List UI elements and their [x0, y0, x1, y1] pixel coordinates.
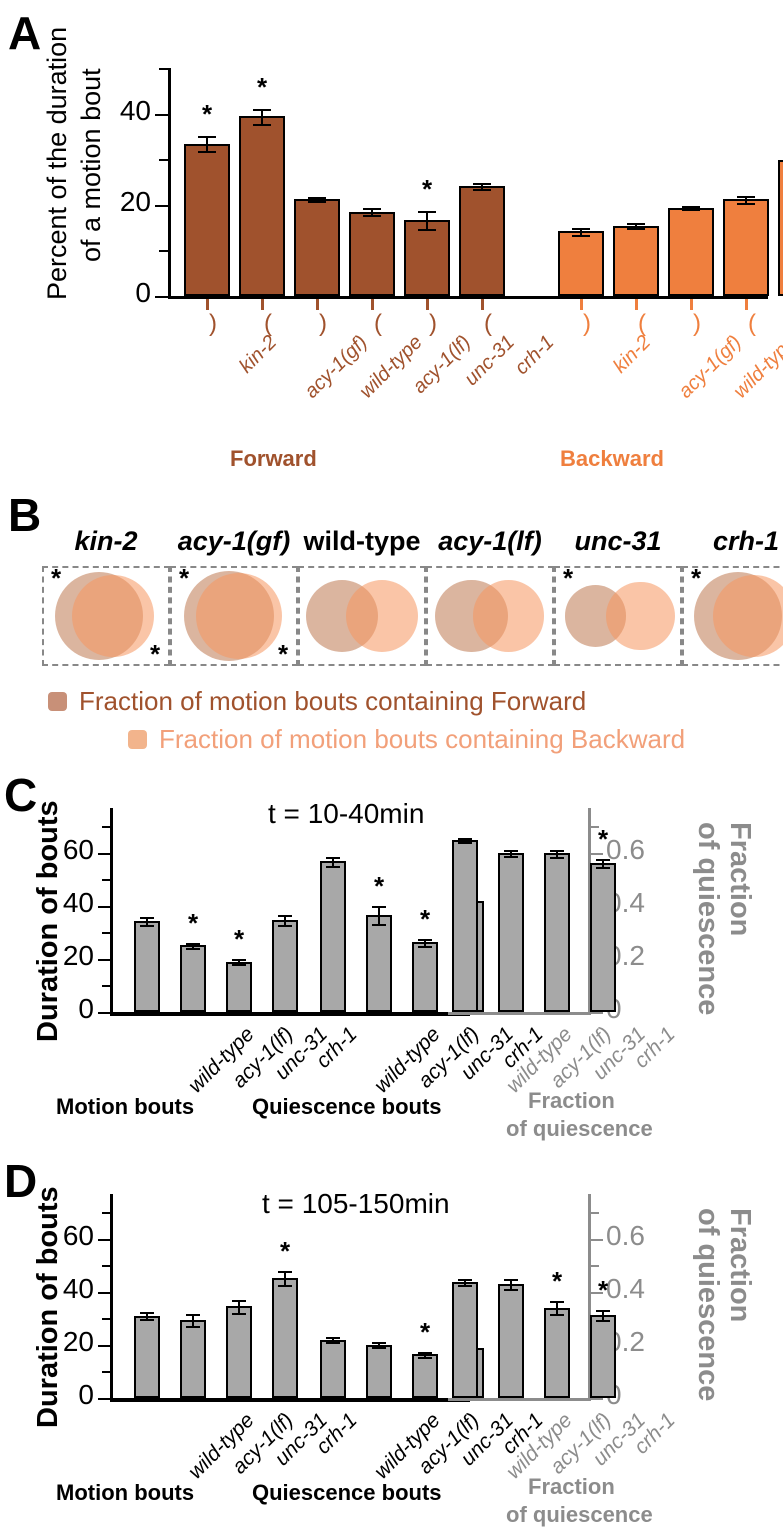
panel-a-errorbar-cap — [253, 109, 271, 111]
panel-a-bar-forward-wild-type — [294, 199, 340, 296]
errorbar-cap — [458, 842, 472, 844]
errorbar-cap — [458, 838, 472, 840]
panel-a-ytick — [155, 205, 168, 207]
left-ytick — [102, 1212, 110, 1214]
panel-c-group-fraction-line1: Fraction — [528, 1088, 615, 1114]
left-y-axis — [110, 808, 113, 1015]
errorbar-cap — [278, 1271, 292, 1273]
errorbar-cap — [596, 1320, 610, 1322]
panel-a-bar-backward-unc-31 — [778, 160, 783, 296]
errorbar-cap — [326, 1342, 340, 1344]
bar-motion-bouts-acy-1(lf) — [180, 1320, 206, 1398]
legend-row-forward: Fraction of motion bouts containing Forw… — [48, 686, 586, 717]
panel-a-errorbar-cap — [627, 223, 645, 225]
errorbar-cap — [232, 1313, 246, 1315]
panel-b-circle-backward-unc-31 — [606, 582, 674, 650]
right-ytick-label-2: 0.4 — [606, 1276, 684, 1301]
left-x-axis — [110, 1012, 470, 1016]
right-ytick — [591, 1398, 603, 1400]
significance-star: * — [591, 1280, 615, 1300]
panel-a-xtick — [206, 299, 209, 310]
errorbar-cap — [418, 946, 432, 948]
panel-b-circle-backward-acy-1(gf) — [196, 573, 282, 659]
panel-a-errorbar-cap — [572, 235, 590, 237]
panel-a-significance-star: * — [413, 179, 441, 199]
panel-d-group-fraction-line1: Fraction — [528, 1474, 615, 1500]
right-ytick-label-1: 0.2 — [606, 943, 684, 968]
errorbar-cap — [372, 906, 386, 908]
bar-motion-bouts-unc-31 — [226, 1306, 252, 1398]
errorbar-cap — [232, 964, 246, 966]
panel-d-plot: 020406000.20.40.6wild-typeacy-1(lf)unc-3… — [0, 1148, 783, 1526]
bar-motion-bouts-crh-1 — [272, 1278, 298, 1398]
left-ytick — [98, 853, 110, 855]
bar-motion-bouts-wild-type — [134, 921, 160, 1012]
panel-a-errorbar — [206, 136, 208, 151]
panel-a-ytick — [155, 114, 168, 116]
errorbar-cap — [596, 859, 610, 861]
panel-a-bar-forward-acy-1(gf) — [239, 116, 285, 296]
errorbar-cap — [596, 1310, 610, 1312]
significance-star: * — [273, 1241, 297, 1261]
left-ytick — [102, 1265, 110, 1267]
panel-a-errorbar-cap — [572, 228, 590, 230]
legend-swatch-forward — [48, 692, 67, 711]
panel-b-star-topleft-crh-1: * — [685, 568, 707, 588]
panel-a-xtick — [481, 299, 484, 310]
errorbar-cap — [550, 1301, 564, 1303]
left-ytick — [98, 959, 110, 961]
right-ytick — [591, 1212, 599, 1214]
panel-a-ytick-label-1: 20 — [73, 189, 151, 214]
right-ytick — [591, 1012, 603, 1014]
panel-a-label-connector: ( — [264, 310, 272, 338]
left-x-axis — [110, 1398, 470, 1402]
left-ytick — [102, 932, 110, 934]
panel-c: C t = 10-40min Duration of bouts Fractio… — [0, 762, 783, 1140]
errorbar-cap — [232, 959, 246, 961]
legend-label-backward: Fraction of motion bouts containing Back… — [159, 724, 685, 755]
errorbar-cap — [458, 1285, 472, 1287]
panel-a-errorbar-cap — [418, 229, 436, 231]
errorbar-cap — [326, 1337, 340, 1339]
left-ytick — [98, 1239, 110, 1241]
panel-a-ytick-label-0: 0 — [73, 280, 151, 305]
panel-a-group-backward: Backward — [560, 446, 664, 472]
panel-c-group-quiescence: Quiescence bouts — [252, 1094, 442, 1120]
panel-a-bar-forward-unc-31 — [404, 220, 450, 296]
errorbar — [284, 1271, 286, 1285]
errorbar-cap — [278, 925, 292, 927]
panel-a-x-axis — [168, 296, 768, 299]
errorbar-cap — [504, 850, 518, 852]
significance-star: * — [545, 1271, 569, 1291]
left-ytick-label-0: 0 — [20, 996, 94, 1021]
errorbar-cap — [186, 1314, 200, 1316]
panel-a-bar-forward-kin-2 — [184, 144, 230, 296]
bar-fraction-of-quiescence-crh-1 — [590, 1315, 616, 1398]
panel-a-errorbar-cap — [473, 183, 491, 185]
panel-a-errorbar-cap — [627, 228, 645, 230]
left-ytick-label-2: 40 — [20, 1276, 94, 1301]
errorbar-cap — [140, 925, 154, 927]
bar-fraction-of-quiescence-unc-31 — [544, 1308, 570, 1398]
left-ytick — [102, 985, 110, 987]
panel-a-errorbar-cap — [308, 201, 326, 203]
bar-quiescence-bouts-acy-1(lf) — [366, 1345, 392, 1398]
panel-a-xtick — [580, 299, 583, 310]
panel-b: B kin-2**acy-1(gf)**wild-typeacy-1(lf)un… — [0, 490, 783, 762]
panel-a-label-connector: ) — [693, 310, 701, 338]
panel-a-label-connector: ( — [484, 310, 492, 338]
left-ytick-label-2: 40 — [20, 890, 94, 915]
panel-b-star-topleft-unc-31: * — [557, 568, 579, 588]
significance-star: * — [227, 929, 251, 949]
significance-star: * — [181, 913, 205, 933]
errorbar-cap — [278, 1285, 292, 1287]
panel-a-errorbar — [426, 211, 428, 229]
bar-fraction-of-quiescence-acy-1(lf) — [498, 853, 524, 1012]
panel-b-star-bottomright-kin-2: * — [144, 644, 166, 664]
bar-quiescence-bouts-wild-type — [320, 861, 346, 1012]
errorbar-cap — [140, 917, 154, 919]
legend-row-backward: Fraction of motion bouts containing Back… — [128, 724, 685, 755]
panel-a-plot: 02040*kin-2)*acy-1(gf)(wild-type)acy-1(l… — [0, 0, 783, 490]
panel-a-xtick — [371, 299, 374, 310]
right-ytick-label-0: 0 — [606, 1382, 684, 1407]
errorbar-cap — [140, 1312, 154, 1314]
panel-c-plot: 020406000.20.40.6wild-type*acy-1(lf)*unc… — [0, 762, 783, 1140]
errorbar-cap — [186, 943, 200, 945]
panel-a-ytick — [155, 296, 168, 298]
panel-b-star-bottomright-acy-1(gf): * — [272, 644, 294, 664]
panel-b-circle-backward-acy-1(lf) — [473, 580, 544, 651]
left-ytick — [98, 1292, 110, 1294]
panel-c-group-motion: Motion bouts — [56, 1094, 194, 1120]
left-ytick-label-3: 60 — [20, 1223, 94, 1248]
right-ytick-label-3: 0.6 — [606, 1223, 684, 1248]
panel-a-ytick-label-2: 40 — [73, 98, 151, 123]
bar-fraction-of-quiescence-acy-1(lf) — [498, 1284, 524, 1398]
panel-a-xtick — [426, 299, 429, 310]
panel-a-xtick — [745, 299, 748, 310]
panel-d-group-fraction-line2: of quiescence — [506, 1502, 653, 1528]
right-ytick-label-0: 0 — [606, 996, 684, 1021]
left-ytick — [98, 1345, 110, 1347]
panel-a-xtick-label-backward-0: kin-2 — [610, 332, 655, 377]
left-ytick-label-1: 20 — [20, 1329, 94, 1354]
right-ytick — [591, 1265, 599, 1267]
right-ytick-label-3: 0.6 — [606, 837, 684, 862]
panel-a-xtick-label-forward-0: kin-2 — [236, 332, 281, 377]
panel-a-errorbar-cap — [418, 211, 436, 213]
errorbar-cap — [418, 939, 432, 941]
errorbar-cap — [326, 857, 340, 859]
errorbar-cap — [550, 850, 564, 852]
errorbar-cap — [504, 856, 518, 858]
significance-star: * — [367, 876, 391, 896]
panel-b-circle-backward-wild-type — [346, 580, 418, 652]
panel-a-xtick — [316, 299, 319, 310]
panel-b-strain-name-crh-1: crh-1 — [666, 526, 783, 557]
left-ytick — [98, 906, 110, 908]
panel-a-bar-backward-kin-2 — [558, 231, 604, 296]
errorbar-cap — [418, 1357, 432, 1359]
bar-quiescence-bouts-wild-type — [320, 1340, 346, 1398]
panel-a-ytick — [159, 250, 168, 252]
errorbar-cap — [278, 915, 292, 917]
errorbar-cap — [372, 1342, 386, 1344]
bar-fraction-of-quiescence-crh-1 — [590, 863, 616, 1012]
left-ytick — [102, 1318, 110, 1320]
errorbar-cap — [550, 857, 564, 859]
errorbar-cap — [372, 1347, 386, 1349]
bar-fraction-of-quiescence-wild-type — [452, 1282, 478, 1398]
panel-a-label-connector: ) — [429, 310, 437, 338]
legend-label-forward: Fraction of motion bouts containing Forw… — [79, 686, 586, 717]
left-ytick — [98, 1398, 110, 1400]
errorbar-cap — [596, 867, 610, 869]
bar-motion-bouts-wild-type — [134, 1316, 160, 1398]
errorbar-cap — [550, 1314, 564, 1316]
panel-a-errorbar-cap — [682, 206, 700, 208]
panel-b-circle-backward-kin-2 — [72, 575, 154, 657]
panel-d-group-motion: Motion bouts — [56, 1480, 194, 1506]
panel-a: A Percent of the duration of a motion bo… — [0, 0, 783, 490]
significance-star: * — [413, 909, 437, 929]
panel-a-errorbar-cap — [363, 208, 381, 210]
panel-b-star-topleft-kin-2: * — [45, 568, 67, 588]
panel-a-bar-forward-crh-1 — [459, 186, 505, 296]
panel-a-bar-backward-acy-1(gf) — [613, 226, 659, 296]
left-y-axis — [110, 1194, 113, 1401]
bar-motion-bouts-crh-1 — [272, 920, 298, 1012]
panel-a-label-connector: ) — [583, 310, 591, 338]
bar-quiescence-bouts-unc-31 — [412, 1354, 438, 1398]
left-ytick — [102, 1371, 110, 1373]
left-ytick-label-3: 60 — [20, 837, 94, 862]
panel-a-label-connector: ( — [638, 310, 646, 338]
errorbar-cap — [504, 1289, 518, 1291]
panel-a-bar-forward-acy-1(lf) — [349, 212, 395, 296]
errorbar-cap — [418, 1352, 432, 1354]
bar-fraction-of-quiescence-unc-31 — [544, 853, 570, 1012]
left-ytick-label-0: 0 — [20, 1382, 94, 1407]
right-x-axis — [448, 1012, 591, 1015]
significance-star: * — [413, 1322, 437, 1342]
panel-b-star-topleft-acy-1(gf): * — [173, 568, 195, 588]
panel-b-venn-row: kin-2**acy-1(gf)**wild-typeacy-1(lf)unc-… — [0, 490, 783, 690]
panel-a-errorbar-cap — [737, 203, 755, 205]
panel-a-xtick-label-forward-5: crh-1 — [511, 332, 557, 378]
panel-d: D t = 105-150min Duration of bouts Fract… — [0, 1148, 783, 1526]
panel-a-xtick — [261, 299, 264, 310]
errorbar-cap — [458, 1279, 472, 1281]
panel-a-errorbar-cap — [253, 124, 271, 126]
left-ytick-label-1: 20 — [20, 943, 94, 968]
errorbar-cap — [504, 1279, 518, 1281]
panel-d-group-quiescence: Quiescence bouts — [252, 1480, 442, 1506]
left-ytick — [102, 826, 110, 828]
panel-a-bar-backward-wild-type — [668, 208, 714, 296]
panel-a-xtick — [635, 299, 638, 310]
errorbar — [378, 906, 380, 924]
bar-fraction-of-quiescence-wild-type — [452, 840, 478, 1012]
right-ytick — [591, 1239, 603, 1241]
errorbar-cap — [186, 948, 200, 950]
panel-a-significance-star: * — [248, 77, 276, 97]
bar-motion-bouts-unc-31 — [226, 962, 252, 1012]
left-ytick — [102, 879, 110, 881]
panel-a-errorbar-cap — [198, 136, 216, 138]
errorbar-cap — [372, 924, 386, 926]
panel-a-errorbar-cap — [473, 189, 491, 191]
panel-a-errorbar-cap — [198, 151, 216, 153]
errorbar-cap — [186, 1326, 200, 1328]
bar-quiescence-bouts-acy-1(lf) — [366, 915, 392, 1012]
panel-a-label-connector: ( — [748, 310, 756, 338]
panel-a-errorbar — [261, 109, 263, 125]
panel-a-errorbar-cap — [737, 196, 755, 198]
right-x-axis — [448, 1398, 591, 1401]
bar-motion-bouts-acy-1(lf) — [180, 945, 206, 1012]
right-ytick-label-2: 0.4 — [606, 890, 684, 915]
panel-c-group-fraction-line2: of quiescence — [506, 1116, 653, 1142]
errorbar-cap — [232, 1300, 246, 1302]
errorbar-cap — [140, 1319, 154, 1321]
panel-a-group-forward: Forward — [230, 446, 317, 472]
panel-a-label-connector: ) — [319, 310, 327, 338]
panel-a-bar-backward-acy-1(lf) — [723, 199, 769, 296]
legend-swatch-backward — [128, 730, 147, 749]
panel-a-label-connector: ( — [374, 310, 382, 338]
right-ytick-label-1: 0.2 — [606, 1329, 684, 1354]
panel-a-errorbar-cap — [308, 197, 326, 199]
panel-a-label-connector: ) — [209, 310, 217, 338]
panel-a-significance-star: * — [193, 104, 221, 124]
panel-a-y-axis — [168, 68, 171, 298]
panel-a-xtick — [690, 299, 693, 310]
left-ytick — [98, 1012, 110, 1014]
errorbar-cap — [326, 866, 340, 868]
significance-star: * — [591, 829, 615, 849]
panel-a-errorbar-cap — [682, 209, 700, 211]
panel-a-ytick — [159, 68, 168, 70]
panel-a-ytick — [159, 159, 168, 161]
panel-a-errorbar-cap — [363, 215, 381, 217]
bar-quiescence-bouts-unc-31 — [412, 942, 438, 1012]
